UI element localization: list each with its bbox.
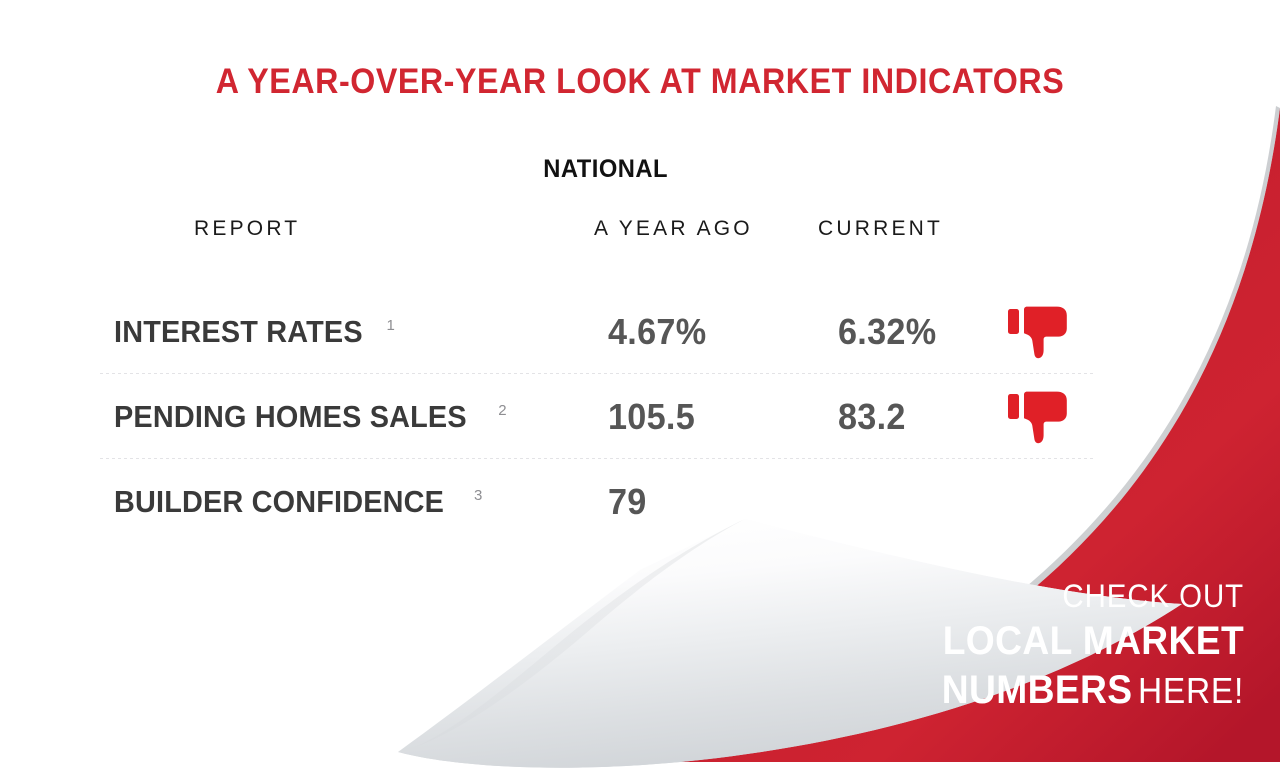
table-row: BUILDER CONFIDENCE3 79: [100, 459, 1100, 544]
thumbs-down-icon: [1005, 301, 1075, 363]
row-label-text: PENDING HOMES SALES: [114, 399, 467, 435]
column-header-a-year-ago: A YEAR AGO: [594, 217, 753, 241]
row-value-a-year-ago-text: 4.67%: [608, 311, 706, 353]
row-value-a-year-ago: 79: [608, 481, 649, 523]
cta-line-numbers-here: NUMBERSHERE!: [942, 670, 1244, 710]
column-header-current: CURRENT: [818, 217, 943, 241]
row-label-builder-confidence: BUILDER CONFIDENCE3: [114, 484, 483, 520]
row-label-pending-homes-sales: PENDING HOMES SALES2: [114, 399, 507, 435]
scope-heading-label: NATIONAL: [543, 155, 668, 184]
row-value-current: 83.2: [838, 396, 909, 438]
row-value-a-year-ago: 105.5: [608, 396, 700, 438]
row-value-current: 6.32%: [838, 311, 942, 353]
cta-numbers-text: NUMBERS: [942, 668, 1133, 712]
table-row: PENDING HOMES SALES2 105.5 83.2: [100, 374, 1100, 459]
row-footnote-marker: 3: [474, 487, 483, 504]
cta-line-check-out: CHECK OUT: [945, 580, 1244, 612]
row-value-current-text: 83.2: [838, 396, 906, 438]
row-value-a-year-ago-text: 105.5: [608, 396, 695, 438]
row-value-a-year-ago: 4.67%: [608, 311, 712, 353]
row-value-current-text: 6.32%: [838, 311, 936, 353]
local-market-cta[interactable]: CHECK OUT LOCAL MARKET NUMBERSHERE!: [919, 580, 1244, 710]
row-label-interest-rates: INTEREST RATES1: [114, 314, 395, 350]
scope-heading: NATIONAL: [100, 155, 1100, 195]
table-row: INTEREST RATES1 4.67% 6.32%: [100, 289, 1100, 374]
table-column-headers: REPORT A YEAR AGO CURRENT: [100, 195, 1100, 251]
row-label-text: INTEREST RATES: [114, 314, 363, 350]
table-body: INTEREST RATES1 4.67% 6.32%: [100, 289, 1100, 544]
row-label-text: BUILDER CONFIDENCE: [114, 484, 444, 520]
slide-canvas: A YEAR-OVER-YEAR LOOK AT MARKET INDICATO…: [0, 0, 1280, 768]
row-footnote-marker: 1: [386, 317, 395, 334]
cta-here-text: HERE!: [1138, 670, 1244, 711]
thumbs-down-icon: [1005, 386, 1075, 448]
row-footnote-marker: 2: [498, 402, 507, 419]
row-value-a-year-ago-text: 79: [608, 481, 647, 523]
market-indicators-table: NATIONAL REPORT A YEAR AGO CURRENT INTER…: [100, 155, 1100, 544]
page-title: A YEAR-OVER-YEAR LOOK AT MARKET INDICATO…: [51, 62, 1229, 102]
column-header-report: REPORT: [194, 217, 300, 241]
cta-line-local-market: LOCAL MARKET: [942, 621, 1244, 661]
